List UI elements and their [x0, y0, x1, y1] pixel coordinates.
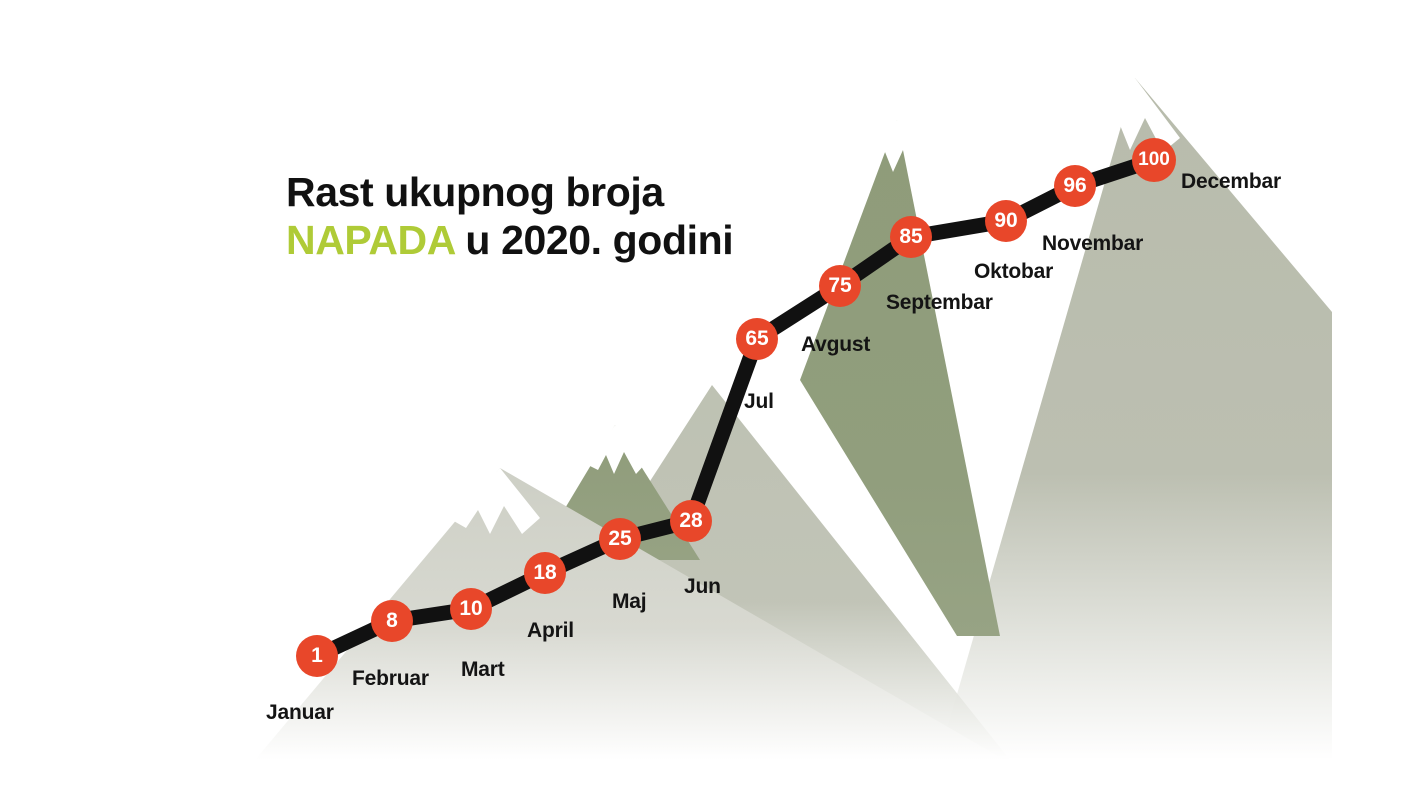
marker-value-oktobar: 90: [976, 210, 1036, 231]
marker-value-decembar: 100: [1124, 150, 1184, 169]
marker-value-februar: 8: [362, 610, 422, 631]
title-line-2: NAPADA u 2020. godini: [286, 216, 846, 264]
month-label-jun: Jun: [684, 575, 721, 599]
infographic-canvas: Rast ukupnog broja NAPADA u 2020. godini…: [0, 0, 1420, 799]
chart-title: Rast ukupnog broja NAPADA u 2020. godini: [286, 168, 846, 265]
title-line-1: Rast ukupnog broja: [286, 168, 846, 216]
marker-value-april: 18: [515, 562, 575, 583]
marker-value-jun: 28: [661, 510, 721, 531]
month-label-mart: Mart: [461, 658, 505, 682]
month-label-oktobar: Oktobar: [974, 260, 1053, 284]
month-label-januar: Januar: [266, 701, 334, 725]
month-label-maj: Maj: [612, 590, 646, 614]
month-label-april: April: [527, 619, 574, 643]
marker-value-septembar: 85: [881, 226, 941, 247]
title-line-2-rest: u 2020. godini: [454, 217, 733, 263]
marker-value-mart: 10: [441, 598, 501, 619]
marker-value-avgust: 75: [810, 275, 870, 296]
month-label-jul: Jul: [744, 390, 774, 414]
marker-value-maj: 25: [590, 528, 650, 549]
marker-value-januar: 1: [287, 645, 347, 666]
marker-value-novembar: 96: [1045, 175, 1105, 196]
month-label-decembar: Decembar: [1181, 170, 1281, 194]
month-label-avgust: Avgust: [801, 333, 870, 357]
month-label-septembar: Septembar: [886, 291, 993, 315]
mountain-line-chart-graphic: [0, 0, 1420, 799]
marker-value-jul: 65: [727, 328, 787, 349]
title-accent-word: NAPADA: [286, 217, 454, 263]
month-label-novembar: Novembar: [1042, 232, 1143, 256]
month-label-februar: Februar: [352, 667, 429, 691]
